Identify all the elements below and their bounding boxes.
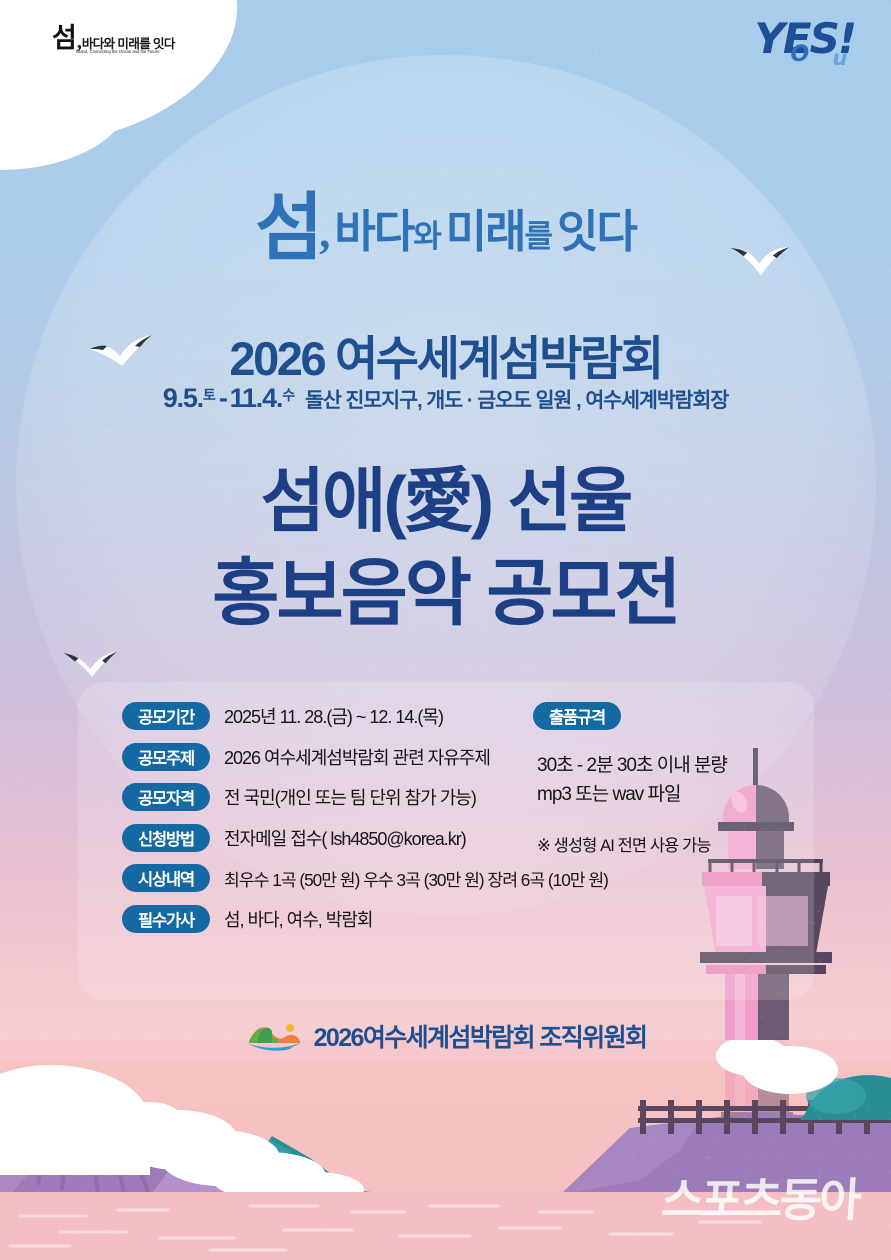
expo-date-start-day: 토 [203, 387, 216, 403]
spec-lines: 30초 - 2분 30초 이내 분량 mp3 또는 wav 파일 [537, 751, 793, 810]
list-item: 시상내역 최우수 1곡 (50만 원) 우수 3곡 (30만 원) 장려 6곡 … [122, 864, 542, 892]
list-item: 필수가사 섬, 바다, 여수, 박람회 [122, 905, 542, 933]
status-badge: 출품규격 [533, 702, 621, 730]
status-badge: 공모주제 [122, 743, 210, 771]
spec-note: ※ 생성형 AI 전면 사용 가능 [537, 832, 793, 856]
headline-line-1: 섬애(愛) 선율 [0, 462, 891, 542]
expo-date-end-day: 수 [282, 387, 295, 403]
info-value: 최우수 1곡 (50만 원) 우수 3곡 (30만 원) 장려 6곡 (10만 … [224, 866, 608, 891]
brand-slogan: 섬,바다와미래를잇다 [0, 192, 891, 266]
spec-line-2: mp3 또는 wav 파일 [537, 780, 793, 809]
status-badge: 시상내역 [122, 864, 210, 892]
slogan-small-2: 를 [525, 219, 552, 254]
list-item: 공모자격 전 국민(개인 또는 팀 단위 참가 가능) [122, 783, 542, 811]
slogan-comma: , [319, 207, 328, 257]
status-badge: 필수가사 [122, 905, 210, 933]
island-logo-english: Island, Connecting the Ocean and the Fut… [76, 49, 202, 55]
spec-line-1: 30초 - 2분 30초 이내 분량 [537, 751, 793, 780]
info-value: 2025년 11. 28.(금) ~ 12. 14.(목) [224, 703, 443, 729]
island-logo-main: 섬 [52, 25, 76, 52]
organizer-name: 2026여수세계섬박람회 조직위원회 [314, 1018, 647, 1054]
info-value-email[interactable]: 전자메일 접수( lsh4850@korea.kr) [224, 825, 466, 851]
status-badge: 신청방법 [122, 824, 210, 852]
list-item: 신청방법 전자메일 접수( lsh4850@korea.kr) [122, 824, 542, 852]
expo-title: 2026 여수세계섬박람회 [0, 320, 891, 389]
yeosu-logo-sub-o: O [790, 44, 807, 66]
expo-date-start: 9.5. [163, 383, 203, 413]
headline-line-2: 홍보음악 공모전 [0, 552, 891, 635]
info-value: 섬, 바다, 여수, 박람회 [224, 906, 373, 932]
slogan-small-1: 와 [413, 219, 440, 254]
slogan-mid-2: 미래 [446, 207, 525, 257]
status-badge: 공모기간 [122, 702, 210, 730]
info-value: 2026 여수세계섬박람회 관련 자유주제 [224, 744, 490, 770]
list-item: 공모기간 2025년 11. 28.(금) ~ 12. 14.(목) [122, 702, 542, 730]
slogan-mid-1: 바다 [334, 207, 413, 257]
info-list: 공모기간 2025년 11. 28.(금) ~ 12. 14.(목) 공모주제 … [122, 702, 542, 945]
island-brand-logo[interactable]: 섬 , 바다와 미래를 잇다 Island, Connecting the Oc… [52, 25, 202, 65]
yeosu-city-logo[interactable]: YES! O u [754, 18, 855, 60]
expo-date-dash: - [219, 383, 227, 413]
info-value: 전 국민(개인 또는 팀 단위 참가 가능) [224, 784, 476, 810]
expo-meta: 9.5.토-11.4.수돌산 진모지구, 개도 · 금오도 일원 , 여수세계박… [0, 383, 891, 414]
watermark: 스포츠동아 [660, 1164, 861, 1230]
expo-venue: 돌산 진모지구, 개도 · 금오도 일원 , 여수세계박람회장 [305, 389, 728, 412]
list-item: 공모주제 2026 여수세계섬박람회 관련 자유주제 [122, 743, 542, 771]
page-title: 섬애(愛) 선율 홍보음악 공모전 [0, 462, 891, 635]
seagull-icon [60, 648, 124, 682]
yeosu-logo-sub-u: u [832, 48, 845, 69]
spec-block: 출품규격 30초 - 2분 30초 이내 분량 mp3 또는 wav 파일 ※ … [533, 702, 793, 856]
status-badge: 공모자격 [122, 783, 210, 811]
slogan-big: 섬 [255, 188, 319, 270]
expo-island-emblem [245, 1019, 303, 1053]
organizer: 2026여수세계섬박람회 조직위원회 [0, 1018, 891, 1054]
poster-canvas: 섬 , 바다와 미래를 잇다 Island, Connecting the Oc… [0, 0, 891, 1260]
slogan-mid-3: 잇다 [557, 207, 636, 257]
expo-date-end: 11.4. [230, 383, 283, 413]
